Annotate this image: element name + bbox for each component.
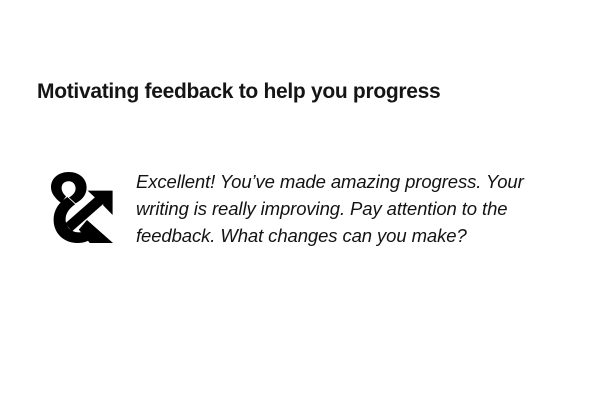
page-title: Motivating feedback to help you progress: [37, 79, 440, 105]
feedback-callout: Excellent! You’ve made amazing progress.…: [40, 168, 575, 253]
ampersand-arrow-icon: [44, 171, 116, 253]
slide-canvas: Motivating feedback to help you progress…: [0, 0, 600, 400]
feedback-message: Excellent! You’ve made amazing progress.…: [136, 168, 573, 249]
